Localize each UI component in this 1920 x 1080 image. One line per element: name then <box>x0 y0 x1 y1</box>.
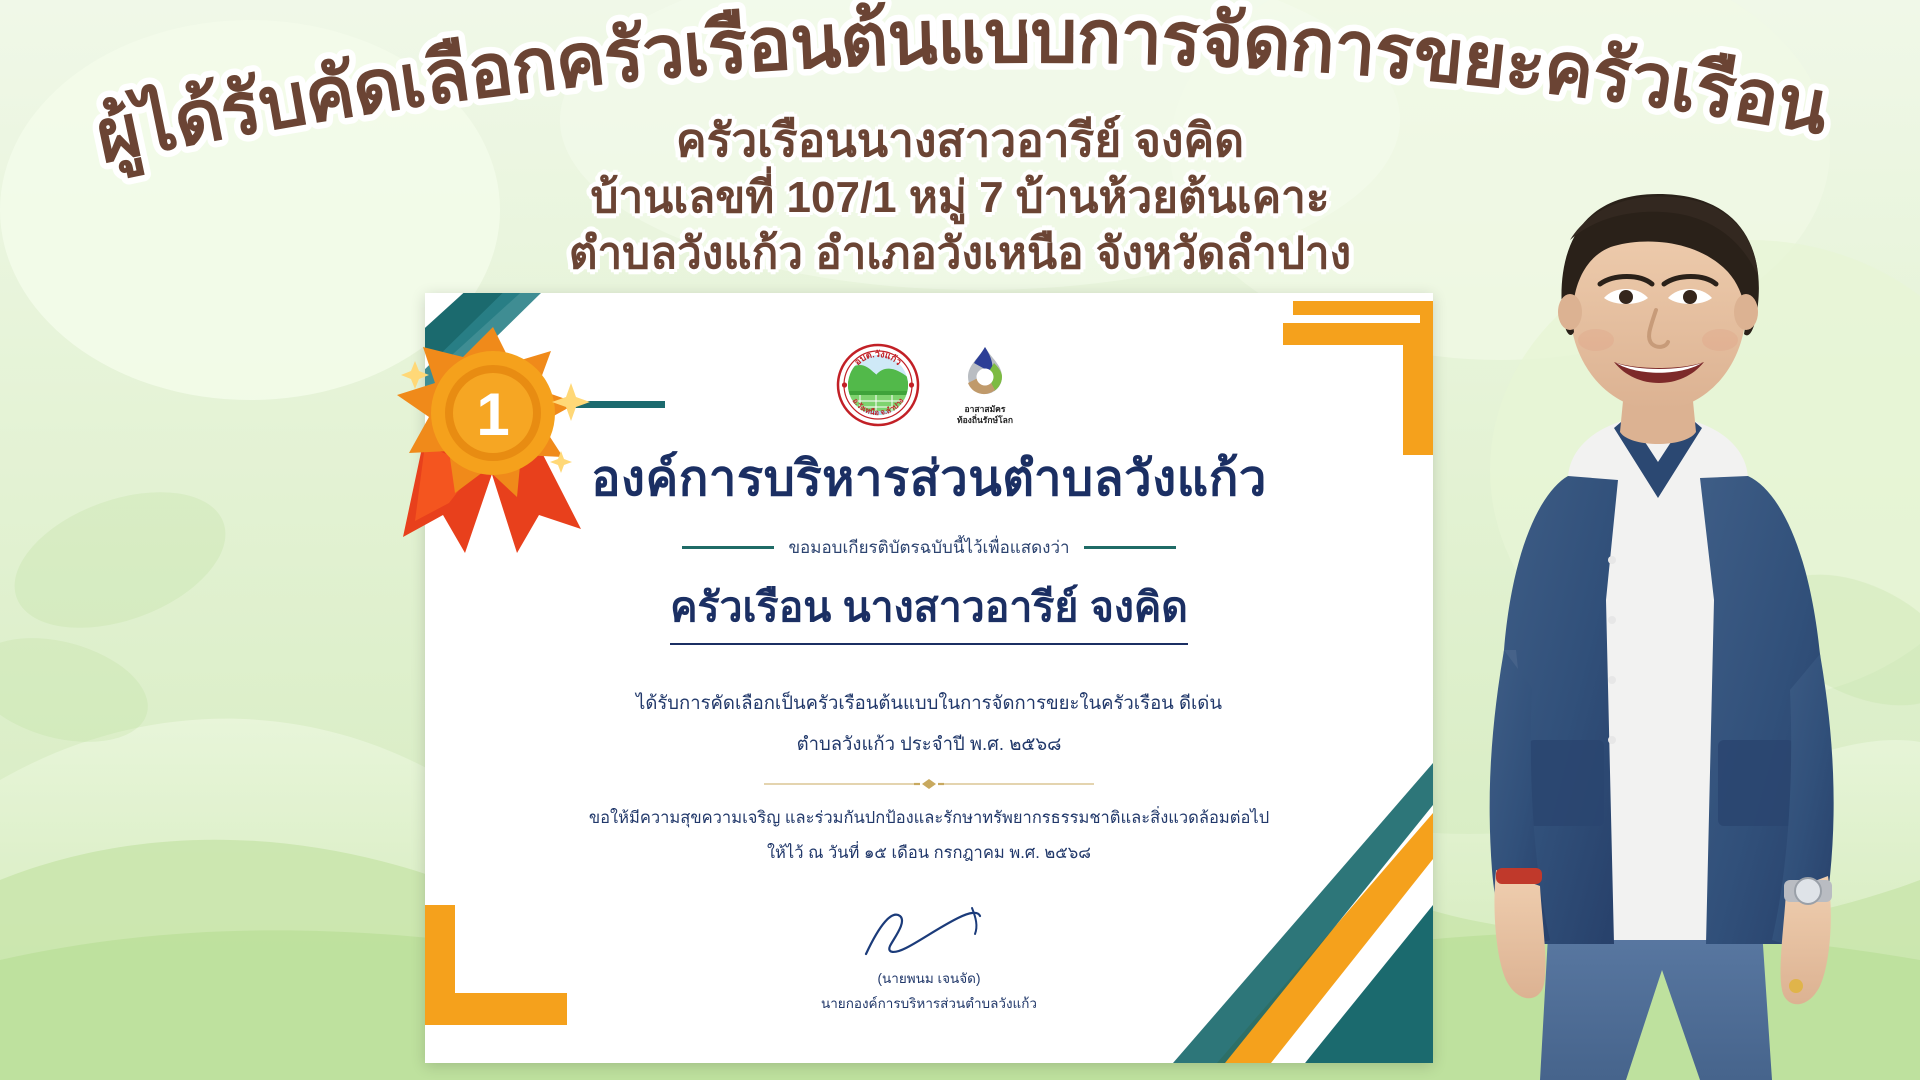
municipal-seal-icon: อบต.วังแก้ว อ.วังเหนือ จ.ลำปาง <box>836 343 920 427</box>
volunteer-logo: อาสาสมัคร ท้องถิ่นรักษ์โลก <box>948 343 1022 427</box>
rank-badge: 1 <box>385 325 625 585</box>
ornamental-divider <box>764 777 1094 789</box>
wish-line-2: ให้ไว้ ณ วันที่ ๑๕ เดือน กรกฎาคม พ.ศ. ๒๕… <box>767 840 1091 866</box>
volunteer-droplet-icon <box>948 343 1022 399</box>
logos-row: อบต.วังแก้ว อ.วังเหนือ จ.ลำปาง <box>836 339 1022 427</box>
award-rule-left <box>682 546 774 549</box>
award-statement: ขอมอบเกียรติบัตรฉบับนี้ไว้เพื่อแสดงว่า <box>788 534 1069 561</box>
body-line-1: ได้รับการคัดเลือกเป็นครัวเรือนต้นแบบในกา… <box>636 689 1222 718</box>
signer-role: นายกองค์การบริหารส่วนตำบลวังแก้ว <box>821 992 1037 1014</box>
rank-number: 1 <box>476 381 509 448</box>
wish-line-1: ขอให้มีความสุขความเจริญ และร่วมกันปกป้อง… <box>589 805 1269 831</box>
recipient-name: ครัวเรือน นางสาวอารีย์ จงคิด <box>670 575 1188 645</box>
signer-name: (นายพนม เจนจัด) <box>821 967 1037 989</box>
handwritten-signature-icon <box>854 904 1004 960</box>
organization-title: องค์การบริหารส่วนตำบลวังแก้ว <box>591 439 1267 517</box>
volunteer-logo-line2: ท้องถิ่นรักษ์โลก <box>948 415 1022 426</box>
award-rule-right <box>1084 546 1176 549</box>
award-statement-row: ขอมอบเกียรติบัตรฉบับนี้ไว้เพื่อแสดงว่า <box>682 534 1175 561</box>
volunteer-logo-line1: อาสาสมัคร <box>948 404 1022 415</box>
body-line-2: ตำบลวังแก้ว ประจำปี พ.ศ. ๒๕๖๘ <box>797 730 1062 759</box>
rank-badge-icon: 1 <box>385 325 625 585</box>
signature-block: (นายพนม เจนจัด) นายกองค์การบริหารส่วนตำบ… <box>821 904 1037 1014</box>
